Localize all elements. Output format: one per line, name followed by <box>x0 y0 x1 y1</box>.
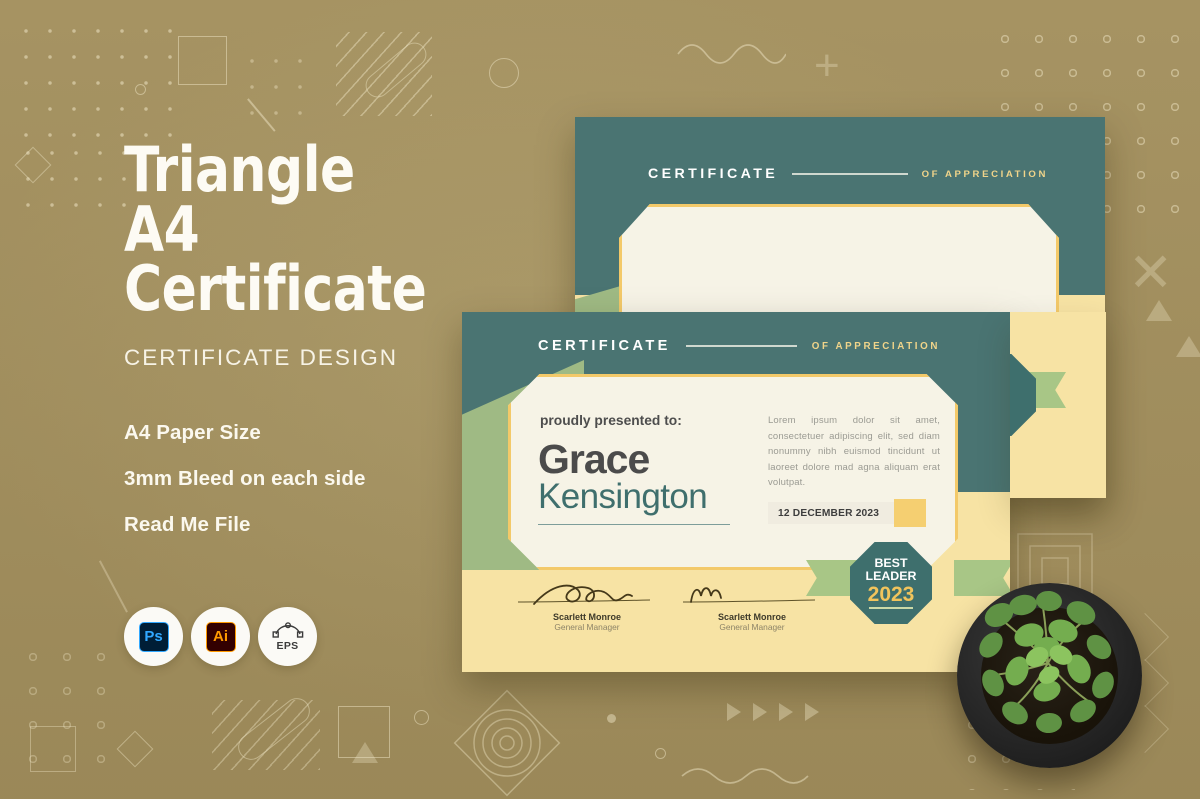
signature-name: Scarlett Monroe <box>677 612 827 622</box>
recipient-last-name: Kensington <box>538 477 707 517</box>
seal-title-line2: LEADER <box>866 570 917 582</box>
kicker-divider <box>686 345 797 346</box>
illustrator-icon: Ai <box>206 622 236 652</box>
kicker-divider <box>792 173 907 174</box>
illustrator-badge[interactable]: Ai <box>191 607 250 666</box>
plant-decoration <box>957 583 1142 768</box>
list-item: Read Me File <box>124 513 365 537</box>
poster-canvas: ✕ + + Triangle A4 Certific <box>0 0 1200 799</box>
certificate-front[interactable]: CERTIFICATE OF APPRECIATION proudly pres… <box>462 312 1010 672</box>
certificate-back-seal-area <box>1010 312 1106 498</box>
recipient-underline <box>538 524 730 525</box>
signature-mark <box>512 578 662 612</box>
presented-label: proudly presented to: <box>540 413 682 428</box>
list-item: 3mm Bleed on each side <box>124 467 365 491</box>
certificate-kicker: CERTIFICATE OF APPRECIATION <box>538 338 940 354</box>
signature-role: General Manager <box>512 622 662 632</box>
list-item: A4 Paper Size <box>124 421 365 445</box>
page-title-line1: Triangle <box>124 140 515 200</box>
certificate-kicker: CERTIFICATE OF APPRECIATION <box>648 166 1048 182</box>
signature-mark <box>677 578 827 612</box>
photoshop-badge[interactable]: Ps <box>124 607 183 666</box>
seal-underline <box>869 607 913 608</box>
recipient-first-name: Grace <box>538 436 649 483</box>
seal-title-line1: BEST <box>874 557 907 569</box>
certificate-date: 12 DECEMBER 2023 <box>768 502 894 524</box>
plant-foliage <box>963 583 1138 748</box>
certificate-body-text: Lorem ipsum dolor sit amet, consectetuer… <box>768 413 940 491</box>
signature-name: Scarlett Monroe <box>512 612 662 622</box>
page-title-line2: A4 Certificate <box>124 200 515 319</box>
date-accent-square <box>894 499 926 527</box>
eps-badge[interactable]: EPS <box>258 607 317 666</box>
seal-year: 2023 <box>868 584 915 605</box>
signature-block: Scarlett Monroe General Manager <box>512 578 662 632</box>
signature-block: Scarlett Monroe General Manager <box>677 578 827 632</box>
certificate-kicker-main: CERTIFICATE <box>648 166 778 182</box>
format-badge-group: Ps Ai EPS <box>124 607 317 666</box>
photoshop-icon: Ps <box>139 622 169 652</box>
feature-list: A4 Paper Size 3mm Bleed on each side Rea… <box>124 421 365 559</box>
certificate-kicker-main: CERTIFICATE <box>538 338 671 354</box>
eps-label: EPS <box>277 640 299 652</box>
certificate-kicker-sub: OF APPRECIATION <box>922 169 1048 180</box>
seal-badge-partial <box>1010 354 1036 436</box>
signature-role: General Manager <box>677 622 827 632</box>
bezier-curve-icon <box>272 621 304 639</box>
certificate-kicker-sub: OF APPRECIATION <box>812 341 940 352</box>
